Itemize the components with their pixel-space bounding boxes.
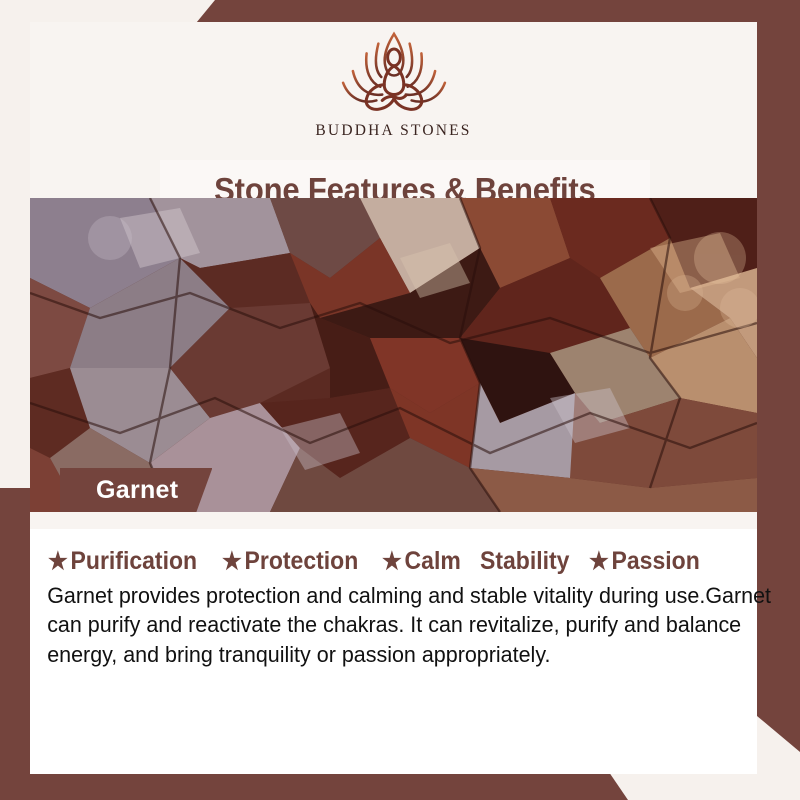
garnet-texture (30, 198, 757, 512)
brand-name: BUDDHA STONES (315, 122, 471, 140)
benefit-label: Passion (612, 547, 700, 576)
benefits-list: ★Purification★Protection★CalmStability★P… (30, 529, 757, 576)
benefit-label: Calm (405, 547, 461, 576)
benefit-label: Purification (71, 547, 198, 576)
star-icon: ★ (589, 550, 609, 574)
lotus-meditation-icon (335, 28, 453, 120)
star-icon: ★ (48, 550, 68, 574)
description-text: Garnet provides protection and calming a… (30, 581, 786, 669)
benefit-item: ★Passion (589, 547, 700, 576)
poster-card: BUDDHA STONES Stone Features & Benefits (30, 22, 757, 774)
brand-logo: BUDDHA STONES (30, 28, 757, 140)
garnet-crystal-photo: Garnet (30, 198, 757, 512)
benefit-label: Stability (480, 547, 569, 576)
benefit-item: ★Calm (382, 547, 461, 576)
benefit-label: Protection (245, 547, 359, 576)
benefit-item: ★Protection (222, 547, 358, 576)
star-icon: ★ (222, 550, 242, 574)
benefit-item: ★Purification (48, 547, 197, 576)
benefit-item: Stability (480, 547, 569, 576)
content-area: ★Purification★Protection★CalmStability★P… (30, 512, 757, 774)
star-icon: ★ (382, 550, 402, 574)
stone-name-label: Garnet (60, 468, 212, 512)
content-panel: ★Purification★Protection★CalmStability★P… (30, 529, 757, 774)
frame-left-accent (0, 488, 30, 800)
stone-name-text: Garnet (96, 476, 178, 505)
stone-benefits-poster: BUDDHA STONES Stone Features & Benefits (0, 0, 800, 800)
